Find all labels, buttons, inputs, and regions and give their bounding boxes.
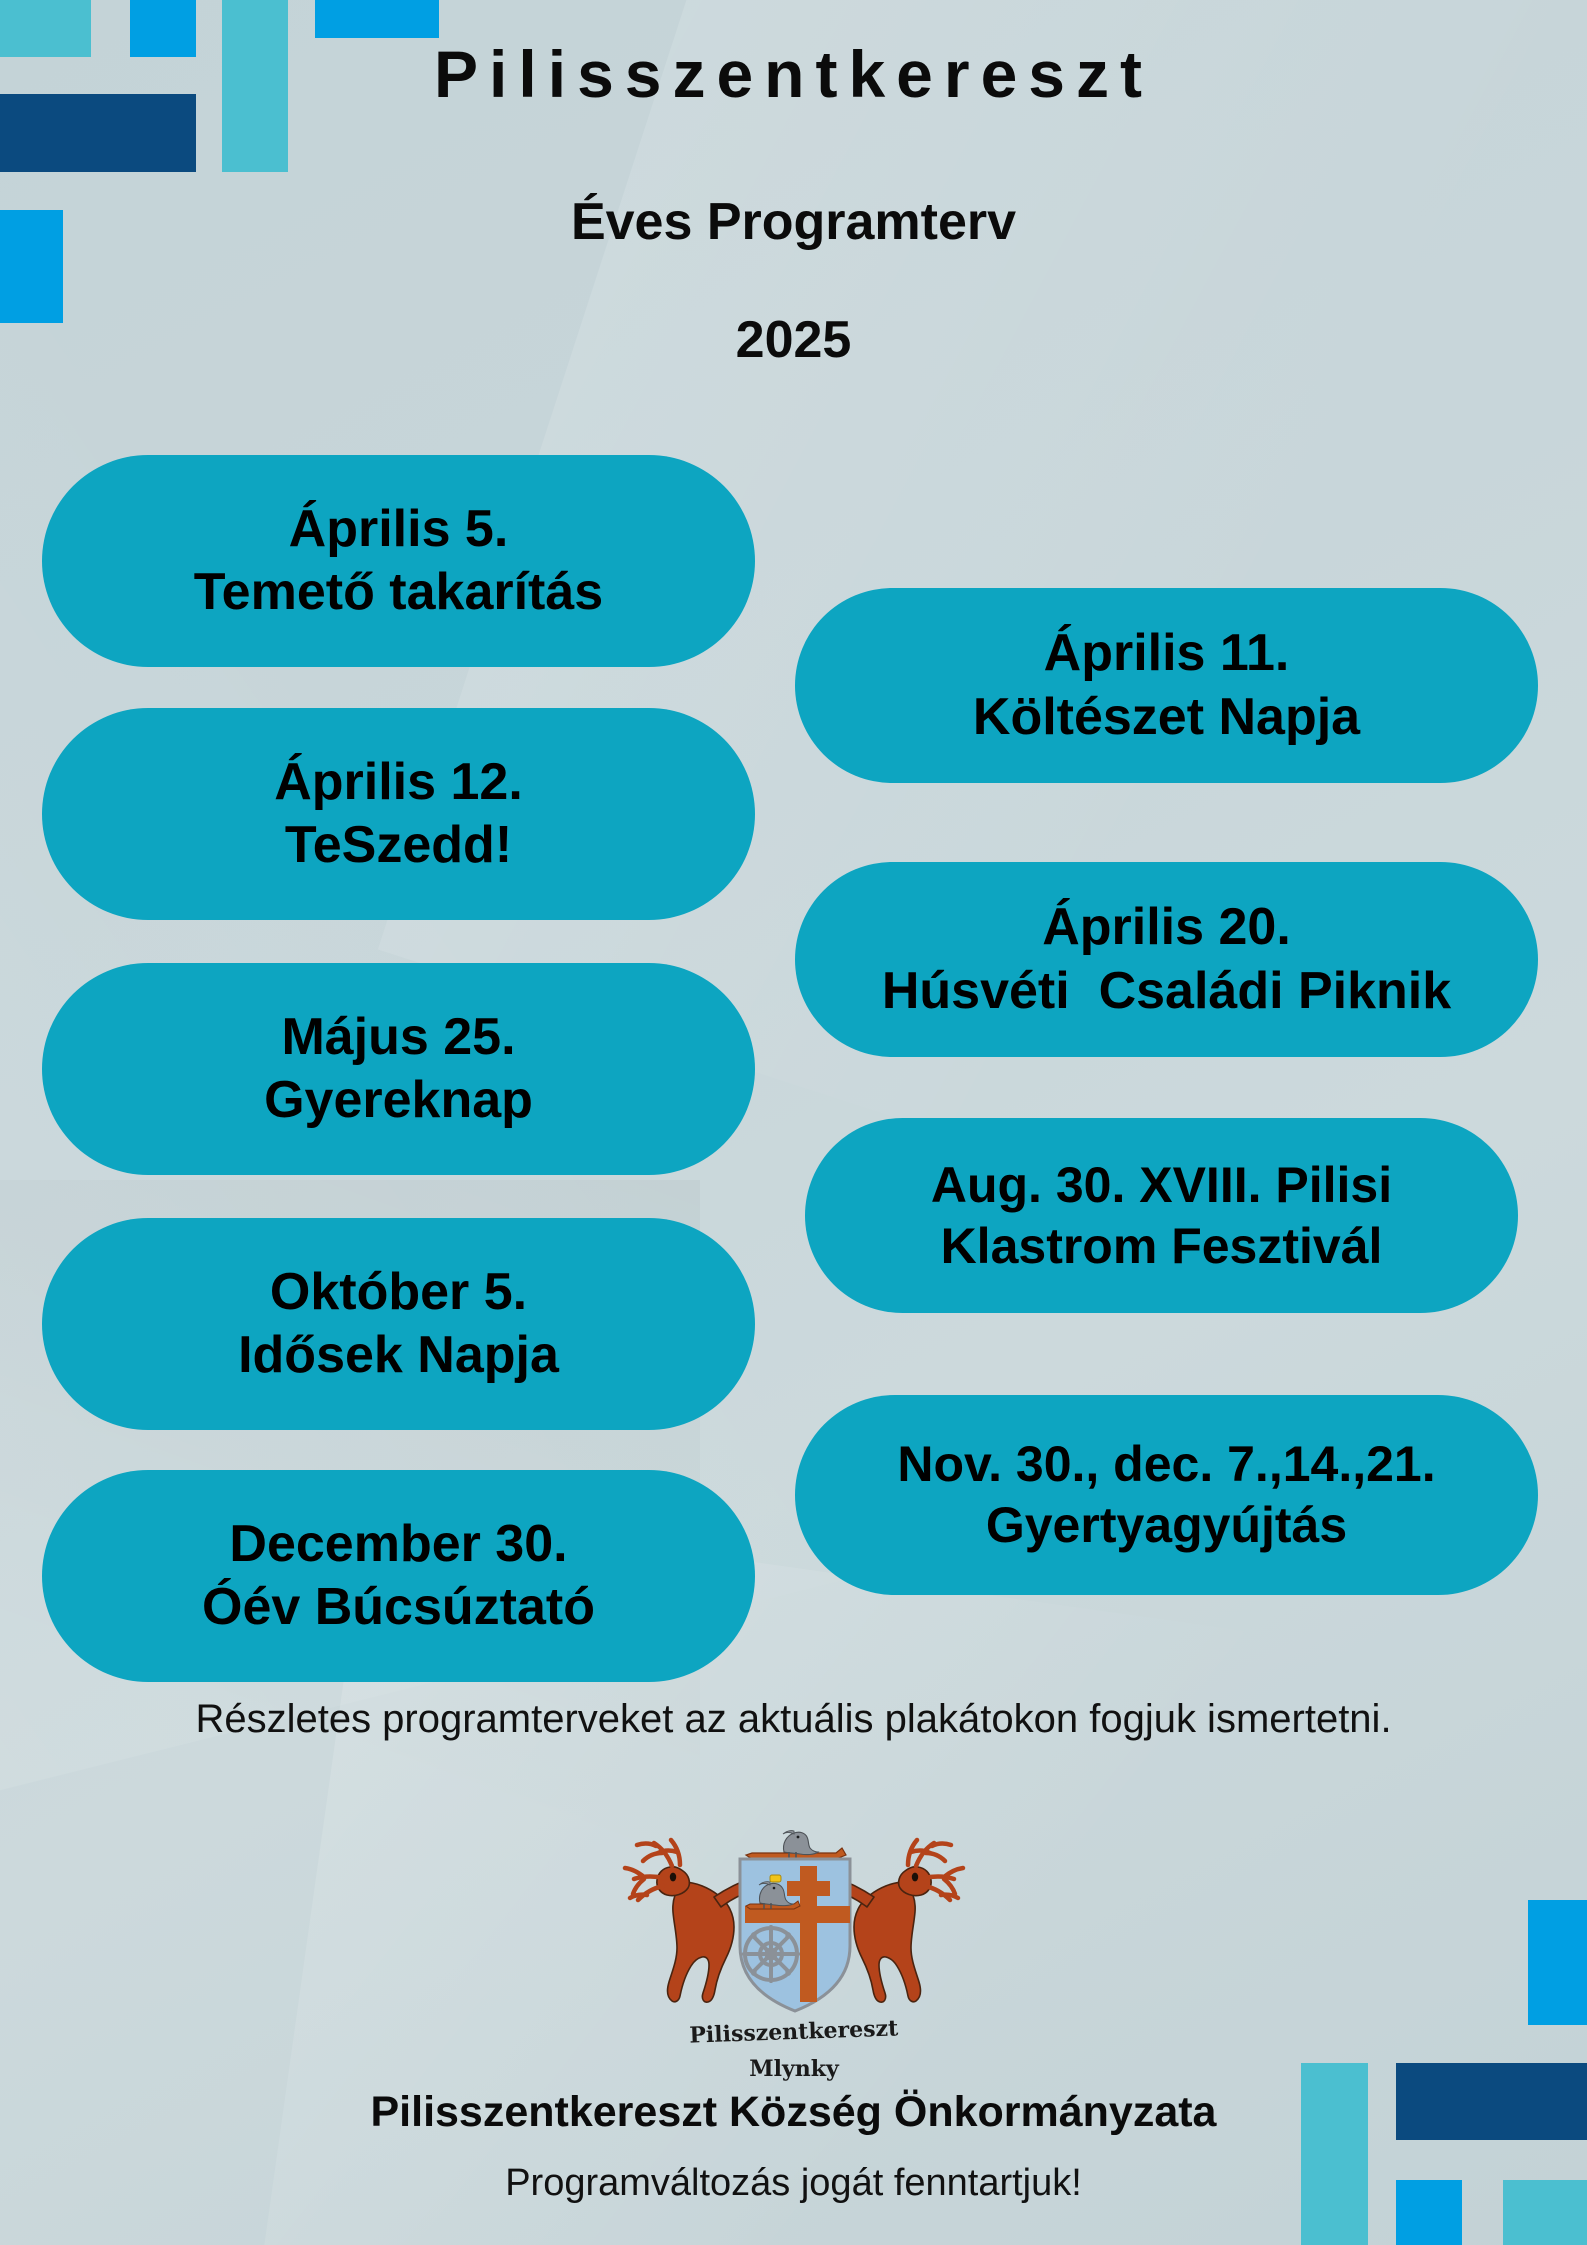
page-year: 2025 (0, 310, 1587, 370)
event-title: Klastrom Fesztivál (941, 1216, 1383, 1277)
event-title: Temető takarítás (194, 561, 603, 624)
event-date: Április 11. (1044, 622, 1290, 685)
organization-name: Pilisszentkereszt Község Önkormányzata (0, 2088, 1587, 2137)
event-pill-right-3[interactable]: Aug. 30. XVIII. Pilisi Klastrom Fesztivá… (805, 1118, 1518, 1313)
event-date: Aug. 30. XVIII. Pilisi (931, 1155, 1392, 1216)
deco-rect-blue-top-b (315, 0, 439, 38)
gold-ring-icon (770, 1875, 781, 1882)
page-subtitle: Éves Programterv (0, 192, 1587, 252)
event-title: Húsvéti Családi Piknik (882, 960, 1451, 1023)
event-date: Április 5. (289, 498, 509, 561)
event-date: Október 5. (270, 1261, 527, 1324)
event-title: TeSzedd! (285, 814, 512, 877)
disclaimer-text: Programváltozás jogát fenntartjuk! (0, 2162, 1587, 2205)
event-pill-left-2[interactable]: Április 12. TeSzedd! (42, 708, 755, 920)
event-title: Idősek Napja (238, 1324, 559, 1387)
event-title: Költészet Napja (973, 686, 1360, 749)
event-date: Április 20. (1042, 896, 1291, 959)
event-pill-right-4[interactable]: Nov. 30., dec. 7.,14.,21. Gyertyagyújtás (795, 1395, 1538, 1595)
event-pill-left-3[interactable]: Május 25. Gyereknap (42, 963, 755, 1175)
event-date: Április 12. (274, 751, 523, 814)
event-date: Május 25. (281, 1006, 515, 1069)
event-title: Gyereknap (264, 1069, 533, 1132)
detail-note: Részletes programterveket az aktuális pl… (0, 1697, 1587, 1742)
crest-name-hu: Pilisszentkereszt (688, 2015, 899, 2048)
event-pill-right-2[interactable]: Április 20. Húsvéti Családi Piknik (795, 862, 1538, 1057)
event-pill-right-1[interactable]: Április 11. Költészet Napja (795, 588, 1538, 783)
coat-of-arms: Pilisszentkereszt Mlynky (614, 1826, 974, 2093)
page-title: Pilisszentkereszt (0, 36, 1587, 112)
coat-of-arms-icon: Pilisszentkereszt Mlynky (614, 1826, 974, 2088)
event-title: Gyertyagyújtás (986, 1495, 1347, 1556)
event-pill-left-4[interactable]: Október 5. Idősek Napja (42, 1218, 755, 1430)
event-date: December 30. (229, 1513, 567, 1576)
event-title: Óév Búcsúztató (202, 1576, 595, 1639)
poster-canvas: Pilisszentkereszt Éves Programterv 2025 … (0, 0, 1587, 2245)
event-pill-left-1[interactable]: Április 5. Temető takarítás (42, 455, 755, 667)
deco-rect-blue-bottomright-top (1528, 1900, 1587, 2025)
event-pill-left-5[interactable]: December 30. Óév Búcsúztató (42, 1470, 755, 1682)
crest-name-sk: Mlynky (749, 2056, 840, 2082)
event-date: Nov. 30., dec. 7.,14.,21. (897, 1434, 1435, 1495)
